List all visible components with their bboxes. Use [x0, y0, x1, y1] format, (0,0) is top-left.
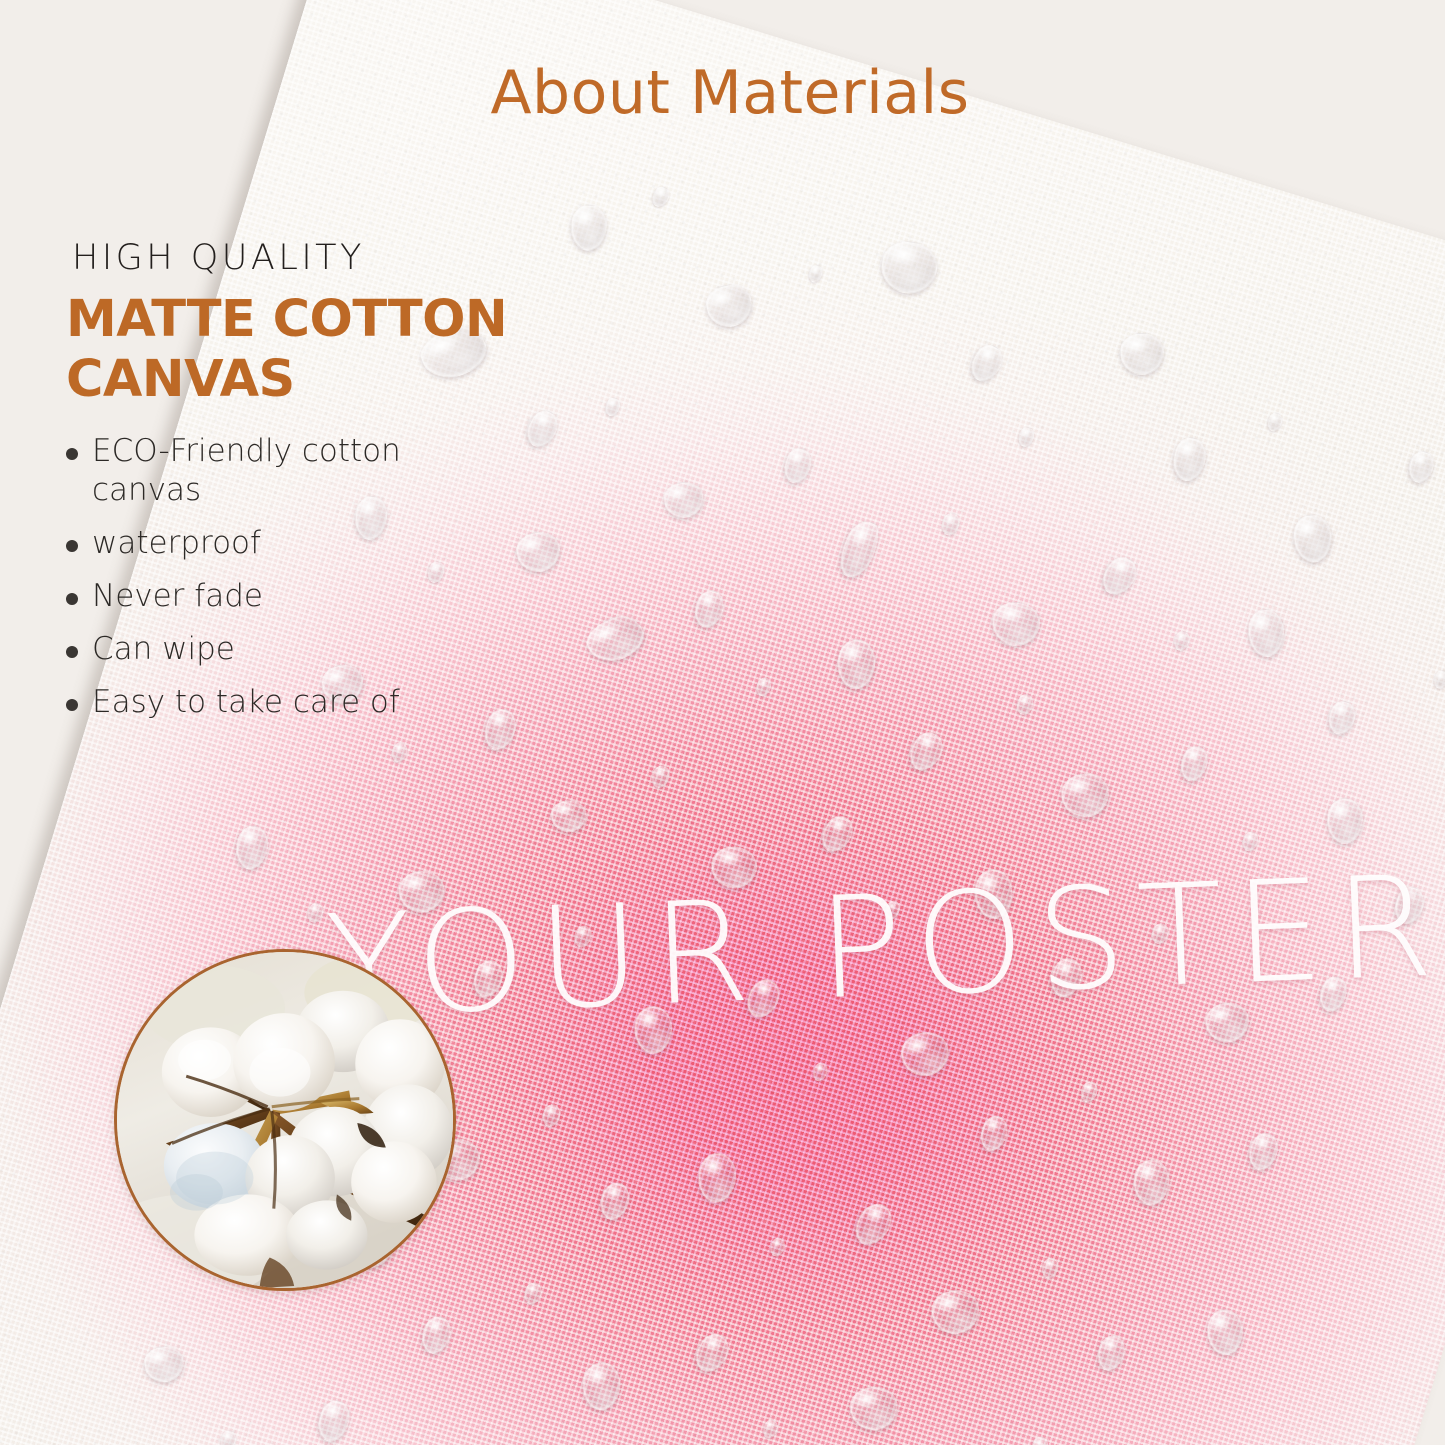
water-droplet — [768, 1236, 787, 1258]
water-droplet — [832, 515, 886, 583]
water-droplet — [974, 869, 1013, 920]
water-droplet — [305, 901, 325, 924]
water-droplet — [807, 263, 825, 284]
water-droplet — [469, 957, 507, 1001]
water-droplet — [1206, 1308, 1244, 1356]
list-item: Easy to take care of — [58, 683, 458, 722]
water-droplet — [1078, 1080, 1099, 1105]
water-droplet — [1016, 425, 1036, 448]
water-droplet — [1324, 698, 1359, 738]
list-item: Never fade — [58, 577, 458, 616]
water-droplet — [1315, 973, 1350, 1015]
water-droplet — [1291, 513, 1333, 564]
water-droplet — [649, 184, 672, 210]
kicker-label: HIGH QUALITY — [72, 238, 365, 278]
water-droplet — [661, 479, 706, 520]
water-droplet — [571, 924, 594, 950]
water-droplet — [1093, 1332, 1128, 1374]
feature-list: ECO-Friendly cotton canvas waterproof Ne… — [58, 432, 458, 736]
infographic-canvas: YOUR POSTER About Materials HIGH QUALITY… — [0, 0, 1445, 1445]
water-droplet — [761, 1418, 780, 1440]
water-droplet — [1390, 883, 1428, 927]
water-droplet — [603, 396, 622, 418]
water-droplet — [848, 1197, 899, 1251]
water-droplet — [479, 705, 520, 754]
water-droplet — [1432, 668, 1445, 690]
water-droplet — [580, 608, 650, 669]
water-droplet — [1014, 692, 1035, 717]
water-droplet — [903, 727, 949, 777]
water-droplet — [540, 1102, 563, 1129]
cotton-swatch-image — [114, 949, 456, 1291]
water-droplet — [741, 974, 786, 1023]
water-droplet — [649, 763, 672, 790]
water-droplet — [1039, 1256, 1060, 1281]
water-droplet — [1149, 921, 1170, 946]
list-item: waterproof — [58, 524, 458, 563]
water-droplet — [780, 445, 815, 487]
water-droplet — [1247, 608, 1286, 658]
water-droplet — [939, 511, 962, 538]
water-droplet — [815, 811, 859, 858]
water-droplet — [1176, 743, 1211, 785]
water-droplet — [1405, 448, 1437, 486]
water-droplet — [1172, 629, 1192, 652]
water-droplet — [990, 600, 1042, 648]
water-droplet — [389, 741, 409, 764]
water-droplet — [836, 638, 876, 690]
water-droplet — [965, 340, 1008, 387]
water-droplet — [848, 1384, 900, 1432]
water-droplet — [513, 528, 564, 576]
water-droplet — [1029, 1435, 1050, 1445]
list-item: Can wipe — [58, 630, 458, 669]
water-droplet — [581, 1361, 621, 1411]
water-droplet — [522, 1280, 545, 1306]
water-droplet — [1326, 798, 1363, 845]
water-droplet — [596, 1179, 634, 1223]
water-droplet — [1096, 551, 1143, 601]
water-droplet — [313, 1397, 354, 1445]
water-droplet — [1169, 435, 1209, 484]
water-droplet — [550, 799, 588, 833]
water-droplet — [1046, 954, 1086, 1001]
water-droplet — [754, 676, 773, 698]
water-droplet — [1132, 1159, 1170, 1207]
water-droplet — [521, 406, 563, 453]
water-droplet — [709, 845, 758, 891]
water-droplet — [976, 1113, 1011, 1155]
water-droplet — [690, 587, 728, 631]
water-droplet — [1202, 999, 1252, 1045]
water-droplet — [1244, 1129, 1282, 1173]
water-droplet — [702, 280, 756, 331]
water-droplet — [233, 823, 271, 871]
list-item: ECO-Friendly cotton canvas — [58, 432, 458, 510]
water-droplet — [696, 1151, 738, 1204]
water-droplet — [570, 204, 608, 252]
cotton-bolls-illustration — [117, 952, 453, 1288]
water-droplet — [897, 1028, 953, 1080]
water-droplet — [396, 868, 447, 915]
water-droplet — [417, 1313, 455, 1357]
water-droplet — [1119, 332, 1164, 375]
water-droplet — [142, 1344, 186, 1385]
water-droplet — [883, 899, 902, 921]
product-title: MATTE COTTON CANVAS — [66, 290, 586, 410]
page-title: About Materials — [450, 58, 1010, 128]
water-droplet — [877, 237, 940, 297]
water-droplet — [1240, 830, 1260, 853]
water-droplet — [1265, 411, 1284, 433]
water-droplet — [218, 1428, 238, 1445]
water-droplet — [929, 1287, 982, 1337]
water-droplet — [1059, 771, 1111, 819]
water-droplet — [689, 1328, 735, 1378]
water-droplet — [634, 1006, 673, 1055]
water-droplet — [811, 1061, 830, 1083]
